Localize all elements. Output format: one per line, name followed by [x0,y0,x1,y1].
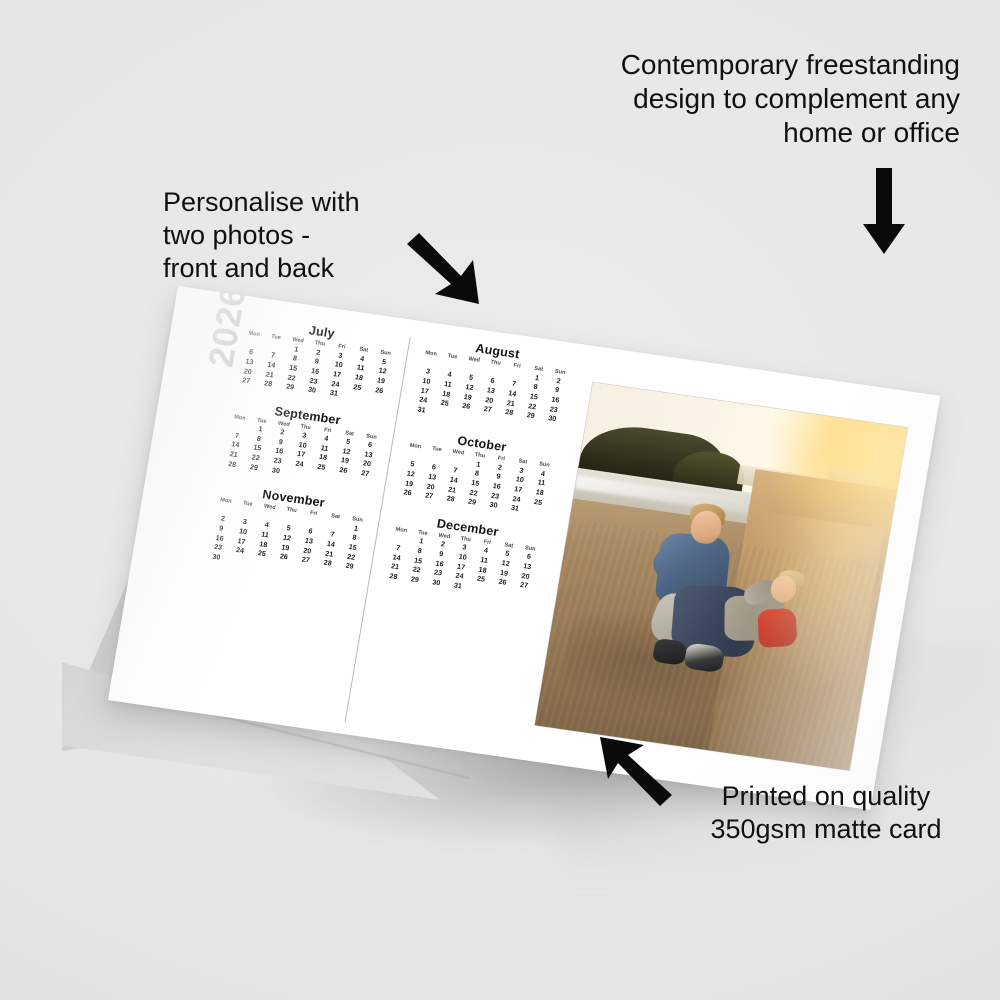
day-cell: 28 [439,494,462,506]
callout-line: 350gsm matte card [676,813,976,846]
day-cell: 26 [396,487,419,499]
month-block: OctoberMonTueWedThuFriSatSun123456789101… [396,426,558,518]
day-cell-empty [314,567,338,580]
day-cell: 30 [425,577,448,589]
callout-350gsm-matte-card: Printed on quality 350gsm matte card [676,780,976,846]
day-cell: 30 [264,465,288,478]
month-block: JulyMonTueWedThuFriSatSun123456789101112… [234,314,399,407]
day-cell-empty [292,564,316,577]
day-cell: 30 [205,551,229,564]
day-cell: 29 [460,497,483,509]
day-cell-empty [496,416,519,428]
day-cell-empty [352,477,376,490]
callout-line: Printed on quality [676,780,976,813]
day-cell: 28 [382,571,405,583]
month-block: AugustMonTueWedThuFriSatSun1234567891011… [410,333,574,435]
day-cell: 28 [256,378,280,391]
day-cell: 27 [417,490,440,502]
callout-line: Contemporary freestanding [540,48,960,82]
day-cell-empty [286,468,310,481]
callout-line: front and back [163,252,413,285]
day-cell: 28 [220,458,244,471]
day-cell-empty [270,561,294,574]
day-cell-empty [336,570,360,583]
month-block: NovemberMonTueWedThuFriSatSun12345678910… [205,481,372,583]
arrow-up-left-icon [600,735,674,807]
month-block: DecemberMonTueWedThuFriSatSun12345678910… [382,510,544,602]
day-cell-empty [453,410,476,422]
month-block: SeptemberMonTueWedThuFriSatSun1234567891… [220,397,385,490]
arrow-down-right-icon [405,232,481,306]
day-cell-empty [248,558,272,571]
day-cell-empty [525,506,548,519]
callout-line: two photos - [163,219,413,252]
callout-freestanding-design: Contemporary freestanding design to comp… [540,48,960,150]
day-cell-empty [366,394,390,407]
day-cell-empty [474,413,497,425]
day-cell-empty [517,419,540,431]
day-cell-empty [330,474,354,487]
product-feature-image: 2026 JulyMonTueWedThuFriSatSun1234567891… [0,0,1000,1000]
day-cell: 27 [234,375,258,388]
day-cell: 31 [410,404,433,416]
day-cell: 31 [446,580,469,592]
day-cell-empty [489,586,512,598]
callout-line: home or office [540,116,960,150]
day-cell-empty [468,583,491,595]
day-cell-empty [431,407,454,419]
day-cell-empty [511,589,534,602]
calendar-photo [535,382,908,770]
day-cell: 29 [278,381,302,394]
callout-line: Personalise with [163,186,413,219]
day-cell-empty [226,554,250,567]
day-cell: 29 [242,462,266,475]
day-cell: 30 [482,500,505,512]
callout-line: design to complement any [540,82,960,116]
callout-personalise-photos: Personalise with two photos - front and … [163,186,413,285]
day-cell: 31 [503,503,526,515]
day-cell: 30 [300,385,324,398]
calendar-months-grid: JulyMonTueWedThuFriSatSun123456789101112… [181,314,573,746]
day-cell-empty [539,423,562,436]
day-cell: 29 [403,574,426,586]
day-cell-empty [308,471,332,484]
day-cell-empty [344,391,368,404]
arrow-down-icon [862,168,906,254]
day-cell: 31 [322,388,346,401]
beach-sunset-photo [535,382,908,770]
